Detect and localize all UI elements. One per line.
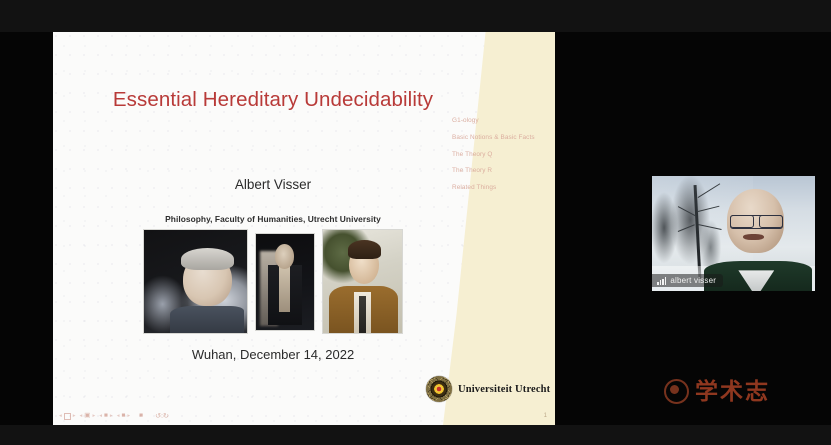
watermark: 学术志: [664, 379, 770, 404]
watermark-text: 学术志: [695, 380, 770, 403]
next-slide-icon[interactable]: ◂■▸: [99, 413, 112, 420]
screen-recording-frame: G1-ology Basic Notions & Basic Facts The…: [0, 0, 831, 445]
search-icon[interactable]: ↺○↻: [155, 412, 168, 420]
slide-affiliation: Philosophy, Faculty of Humanities, Utrec…: [53, 214, 493, 224]
nav-item-basic-notions[interactable]: Basic Notions & Basic Facts: [452, 133, 555, 142]
sun-seal-icon: [426, 376, 452, 402]
slide-author: Albert Visser: [53, 177, 493, 192]
nav-item-g1-ology[interactable]: G1-ology: [452, 116, 555, 125]
logo-mark-icon: [664, 379, 689, 404]
slide-navigation-list[interactable]: G1-ology Basic Notions & Basic Facts The…: [443, 116, 555, 200]
letterbox-bottom: [0, 425, 831, 445]
slide-page-number: 1: [544, 413, 547, 419]
nav-item-related-things[interactable]: Related Things: [452, 183, 555, 192]
back-icon[interactable]: ■: [139, 413, 143, 420]
portrait-photo-left: [143, 229, 248, 334]
participant-name-bar: albert visser: [652, 274, 723, 287]
previous-slide-icon[interactable]: ◂▣▸: [80, 413, 96, 420]
participant-name-label: albert visser: [670, 276, 716, 285]
slide-venue-date: Wuhan, December 14, 2022: [53, 347, 493, 362]
signal-bars-icon: [657, 277, 666, 285]
universiteit-utrecht-label: Universiteit Utrecht: [458, 384, 550, 395]
nav-item-theory-r[interactable]: The Theory R: [452, 166, 555, 175]
first-slide-icon[interactable]: ◂▸: [59, 413, 76, 420]
beamer-navigation-symbols[interactable]: ◂▸ ◂▣▸ ◂■▸ ◂■▸ ■ ↺○↻: [59, 412, 168, 420]
participant-video-tile[interactable]: albert visser: [652, 176, 815, 291]
portrait-photo-middle: [255, 233, 315, 331]
portrait-photo-right: [322, 229, 403, 334]
slide-title: Essential Hereditary Undecidability: [53, 88, 493, 112]
portrait-photo-strip: [130, 228, 415, 335]
presentation-slide[interactable]: G1-ology Basic Notions & Basic Facts The…: [53, 32, 555, 425]
last-slide-icon[interactable]: ◂■▸: [117, 413, 130, 420]
universiteit-utrecht-logo: Universiteit Utrecht: [426, 376, 550, 402]
nav-item-theory-q[interactable]: The Theory Q: [452, 150, 555, 159]
letterbox-top: [0, 0, 831, 32]
glasses-icon: [730, 215, 783, 229]
